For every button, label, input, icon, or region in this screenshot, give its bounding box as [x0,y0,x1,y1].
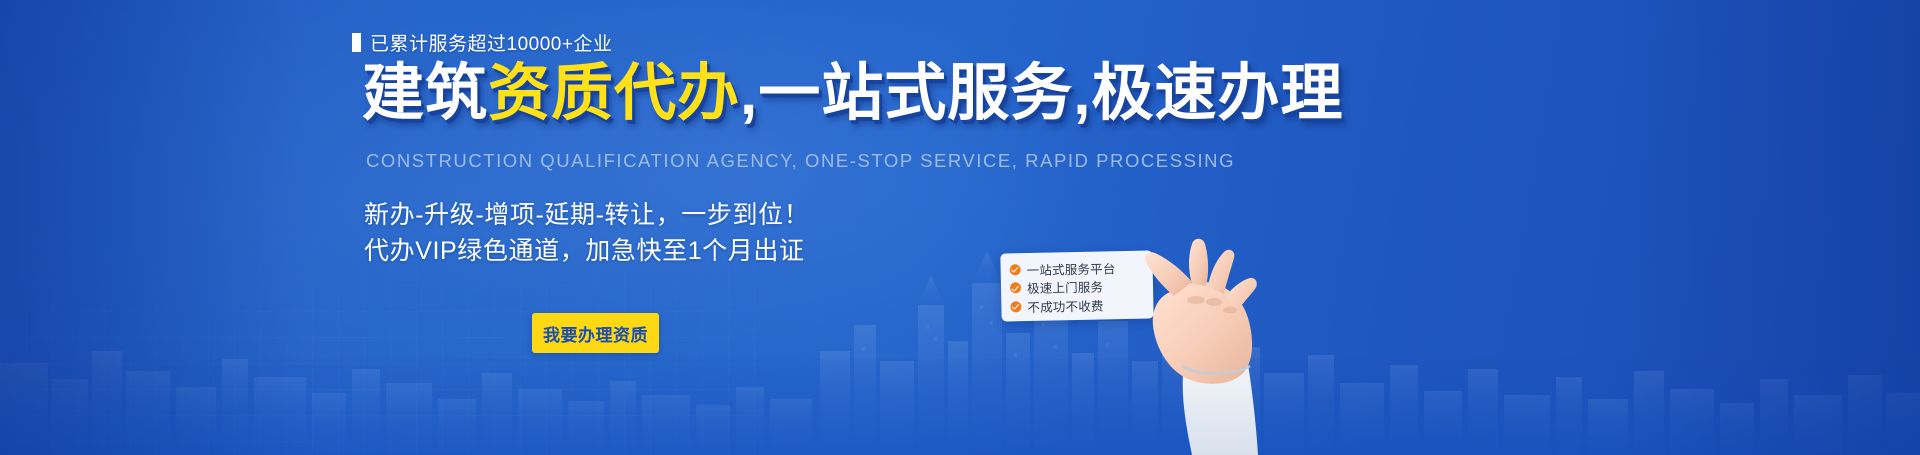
banner-content: 已累计服务超过10000+企业 建筑资质代办,一站式服务,极速办理 CONSTR… [0,0,1920,455]
check-circle-icon [1010,282,1021,293]
check-circle-icon [1010,264,1021,275]
headline-part-1: 建筑 [362,59,488,128]
feature-item-label: 不成功不收费 [1027,295,1104,316]
english-subtitle: CONSTRUCTION QUALIFICATION AGENCY, ONE-S… [366,150,1235,172]
feature-item: 不成功不收费 [1010,295,1144,316]
eyebrow: 已累计服务超过10000+企业 [352,30,612,54]
headline: 建筑资质代办,一站式服务,极速办理 [362,63,1343,125]
eyebrow-label: 已累计服务超过10000+企业 [370,29,612,56]
square-bullet-icon [352,33,361,52]
headline-part-3: ,一站式服务,极速办理 [740,59,1343,128]
feature-item: 一站式服务平台 [1009,258,1143,279]
feature-item: 极速上门服务 [1010,276,1144,297]
body-line-2: 代办VIP绿色通道，加急快至1个月出证 [364,231,805,267]
headline-part-2-highlight: 资质代办 [488,59,740,128]
feature-card: 一站式服务平台 极速上门服务 不成功不收费 [1000,250,1153,321]
check-circle-icon [1010,301,1021,312]
feature-item-label: 极速上门服务 [1027,276,1104,297]
body-line-1: 新办-升级-增项-延期-转让，一步到位！ [364,195,809,231]
hand-holding-card-illustration [1140,236,1270,455]
feature-item-label: 一站式服务平台 [1026,258,1115,279]
apply-qualification-button[interactable]: 我要办理资质 [532,313,659,353]
promo-banner: 已累计服务超过10000+企业 建筑资质代办,一站式服务,极速办理 CONSTR… [0,0,1920,455]
